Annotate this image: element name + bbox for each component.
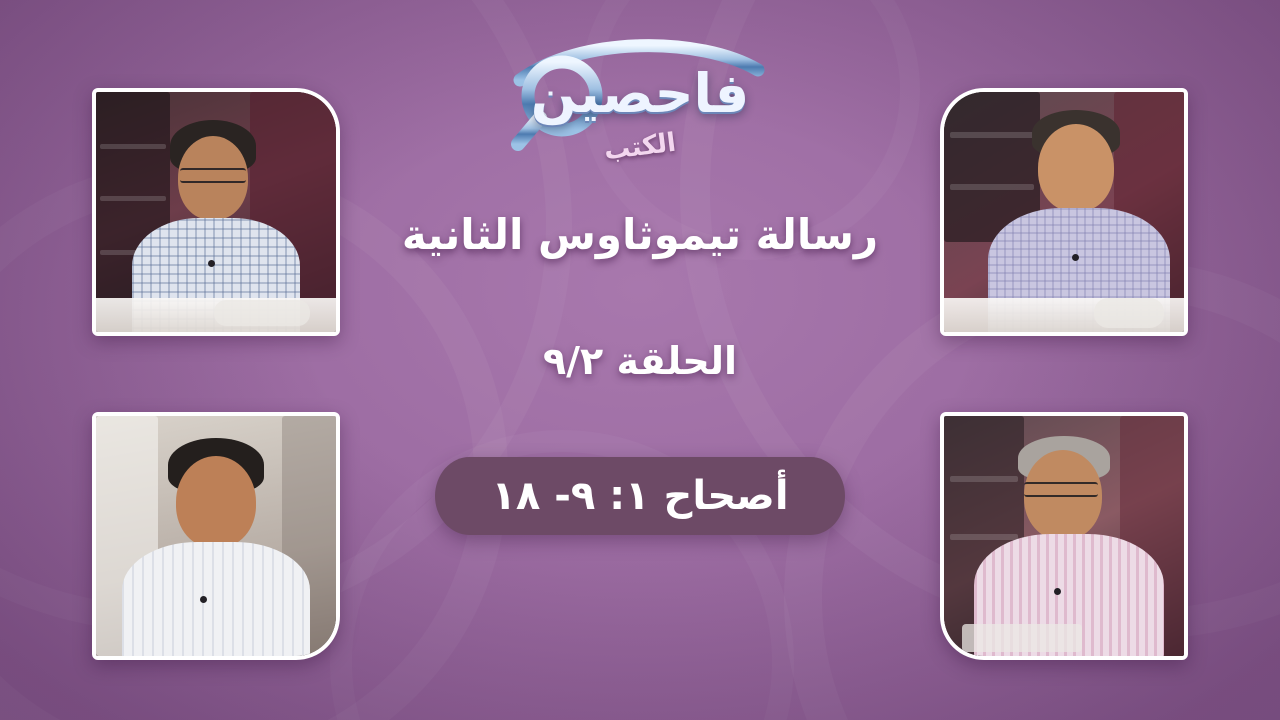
participant-photo-bottom-right bbox=[940, 412, 1188, 660]
program-logo: فاحصين الكتب bbox=[490, 18, 790, 168]
program-title: رسالة تيموثاوس الثانية bbox=[402, 210, 878, 259]
scripture-reference-badge: أصحاح ١: ٩- ١٨ bbox=[435, 457, 844, 535]
participant-photo-top-left bbox=[92, 88, 340, 336]
participant-photo-bottom-left bbox=[92, 412, 340, 660]
title-card: فاحصين الكتب رسالة تيموثاوس الثانية الحل… bbox=[0, 0, 1280, 720]
decorative-swirl bbox=[330, 430, 794, 720]
participant-photo-top-right bbox=[940, 88, 1188, 336]
episode-label: الحلقة ٩/٢ bbox=[543, 339, 737, 383]
